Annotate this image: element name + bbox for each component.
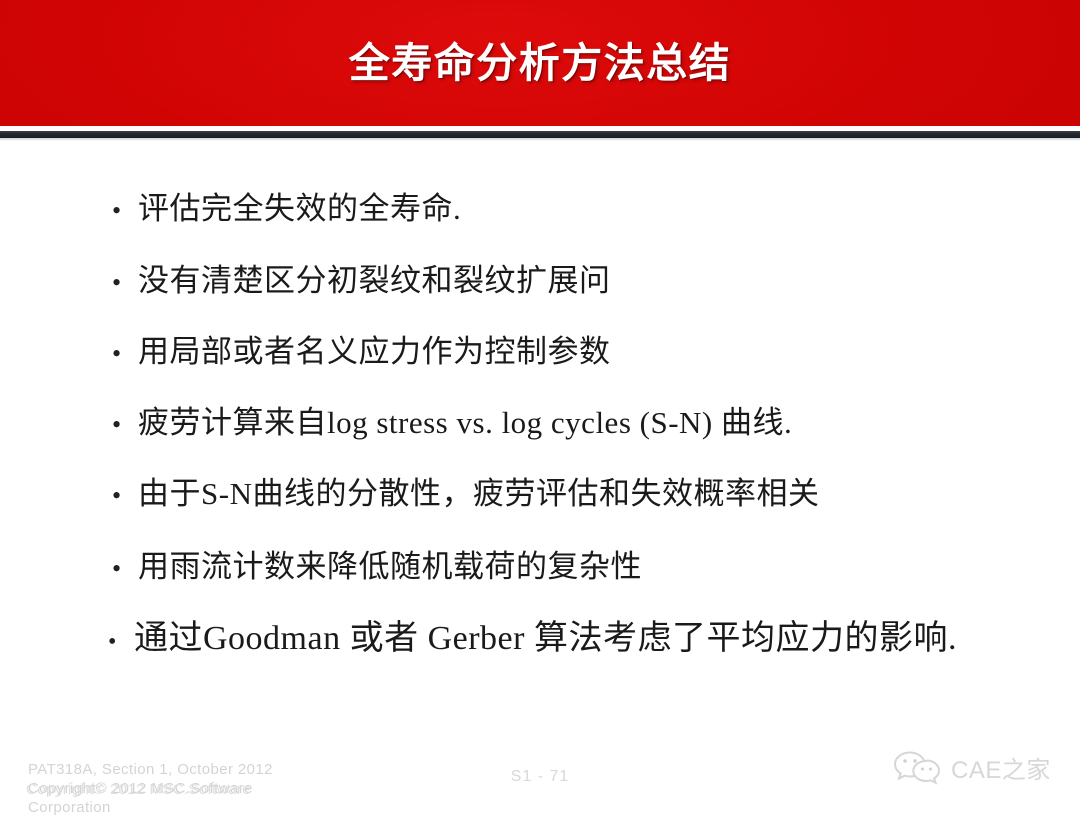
bullet-marker-icon: • bbox=[112, 556, 138, 582]
bullet-marker-icon: • bbox=[112, 412, 138, 438]
list-item: • 通过Goodman 或者 Gerber 算法考虑了平均应力的影响. bbox=[108, 620, 1058, 658]
bullet-marker-icon: • bbox=[112, 483, 138, 509]
slide-header-banner: 全寿命分析方法总结 bbox=[0, 0, 1080, 126]
list-item-text: 用雨流计数来降低随机载荷的复杂性 bbox=[138, 548, 1062, 586]
list-item-text: 疲劳计算来自log stress vs. log cycles (S-N) 曲线… bbox=[138, 404, 1062, 442]
list-item-text: 由于S-N曲线的分散性，疲劳评估和失效概率相关 bbox=[138, 475, 1062, 513]
header-divider-shadow bbox=[0, 138, 1080, 141]
list-item-text: 评估完全失效的全寿命. bbox=[138, 190, 1062, 228]
bullet-list: • 评估完全失效的全寿命. • 没有清楚区分初裂纹和裂纹扩展问 • 用局部或者名… bbox=[0, 150, 1080, 710]
list-item: • 没有清楚区分初裂纹和裂纹扩展问 bbox=[112, 262, 1062, 300]
list-item: • 评估完全失效的全寿命. bbox=[112, 190, 1062, 228]
footer-copyright-line-2: Corporation bbox=[28, 798, 448, 817]
footer-logo: CAE之家 bbox=[893, 744, 1063, 790]
page-title: 全寿命分析方法总结 bbox=[0, 40, 1080, 86]
list-item: • 用局部或者名义应力作为控制参数 bbox=[112, 333, 1062, 371]
list-item-text: 用局部或者名义应力作为控制参数 bbox=[138, 333, 1062, 371]
header-divider-rule bbox=[0, 131, 1080, 138]
list-item-text: 没有清楚区分初裂纹和裂纹扩展问 bbox=[138, 262, 1062, 300]
bullet-marker-icon: • bbox=[112, 270, 138, 296]
list-item-text: 通过Goodman 或者 Gerber 算法考虑了平均应力的影响. bbox=[134, 620, 1058, 658]
bullet-marker-icon: • bbox=[108, 630, 134, 654]
list-item: • 由于S-N曲线的分散性，疲劳评估和失效概率相关 bbox=[112, 475, 1062, 513]
wechat-icon bbox=[893, 747, 945, 787]
footer-logo-text: CAE之家 bbox=[951, 750, 1051, 785]
list-item: • 疲劳计算来自log stress vs. log cycles (S-N) … bbox=[112, 404, 1062, 442]
bullet-marker-icon: • bbox=[112, 198, 138, 224]
bullet-marker-icon: • bbox=[112, 341, 138, 367]
list-item: • 用雨流计数来降低随机载荷的复杂性 bbox=[112, 548, 1062, 586]
